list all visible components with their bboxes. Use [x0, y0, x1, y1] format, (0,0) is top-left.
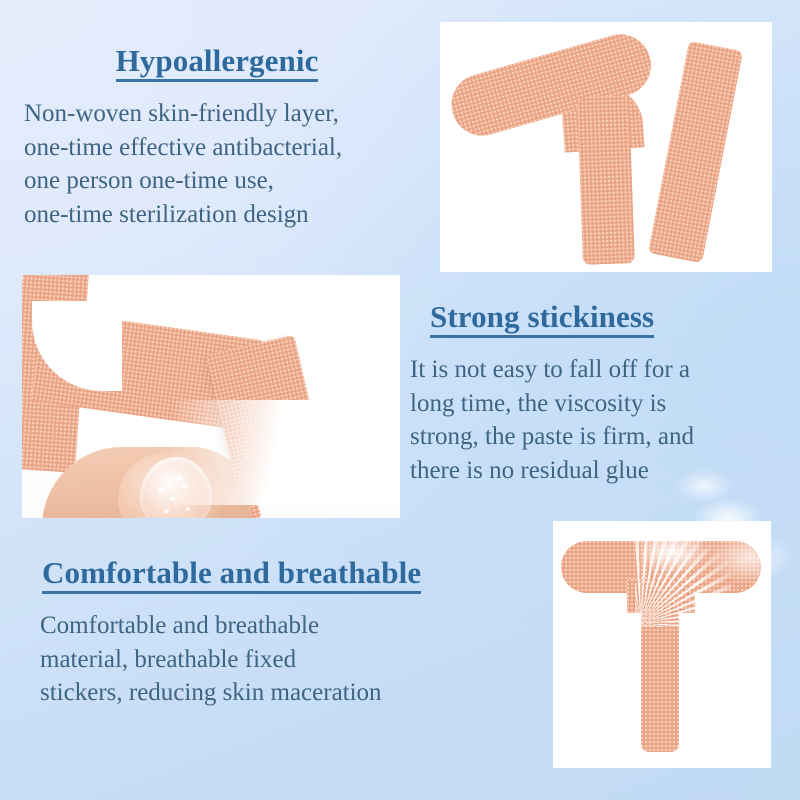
feature-heading: Comfortable and breathable	[42, 556, 421, 594]
photo-finger-peeling-bandage	[22, 275, 400, 518]
feature-description: It is not easy to fall off for a long ti…	[410, 353, 790, 487]
bandage-stem	[577, 95, 635, 265]
feature-description: Comfortable and breathable material, bre…	[32, 609, 552, 710]
feature-block-comfortable-breathable: Comfortable and breathable Comfortable a…	[32, 556, 552, 710]
feature-heading: Strong stickiness	[430, 300, 654, 338]
feature-description: Non-woven skin-friendly layer, one-time …	[24, 97, 434, 231]
photo-highlight	[172, 400, 400, 505]
photo-breathable-bandage	[553, 521, 771, 768]
feature-block-strong-stickiness: Strong stickiness It is not easy to fall…	[410, 300, 790, 487]
feature-heading: Hypoallergenic	[116, 44, 319, 82]
feature-block-hypoallergenic: Hypoallergenic Non-woven skin-friendly l…	[24, 44, 434, 231]
bandage-stem	[641, 577, 679, 752]
product-infographic: Hypoallergenic Non-woven skin-friendly l…	[0, 0, 800, 800]
photo-bandage-pair	[440, 22, 772, 272]
